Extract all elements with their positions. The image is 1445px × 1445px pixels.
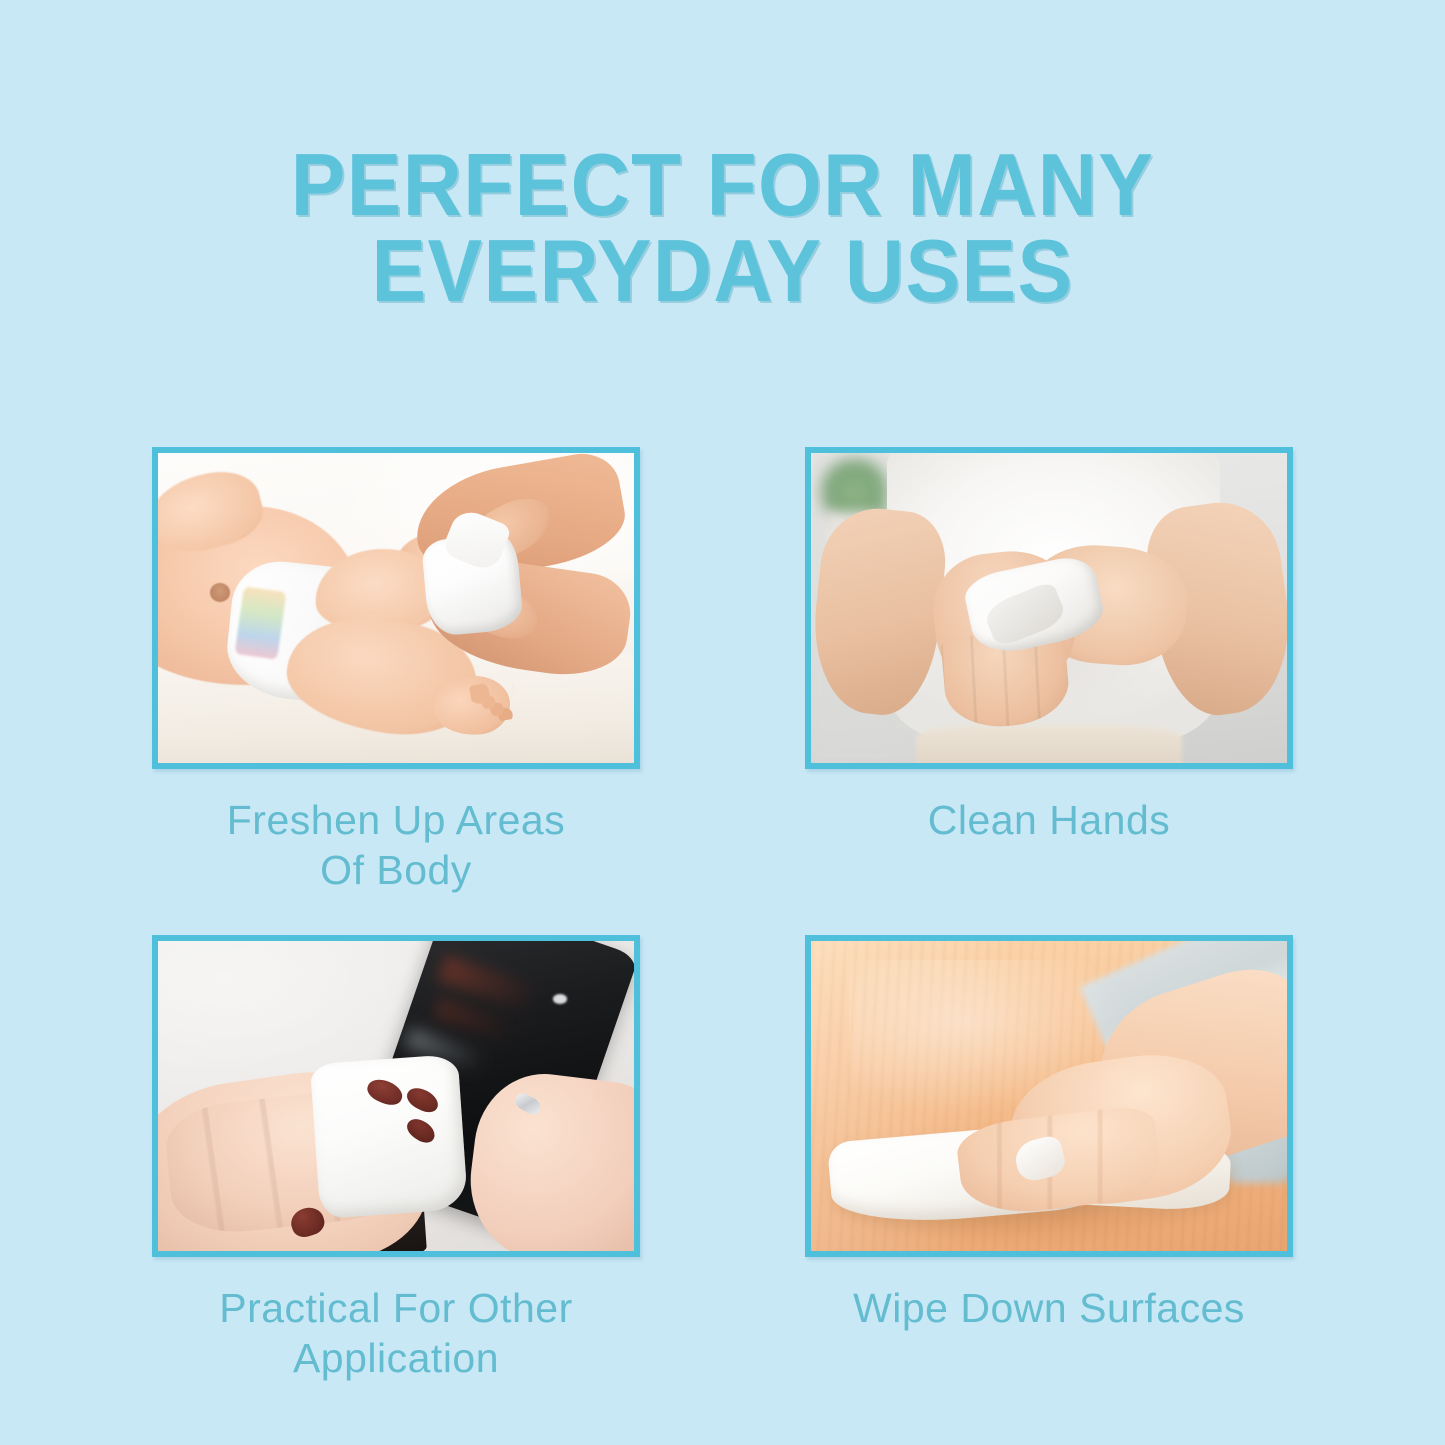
baby-toes-shape	[469, 679, 518, 726]
use-case-caption: Freshen Up Areas Of Body	[227, 795, 565, 895]
phone-screen-wipe-photo	[158, 941, 634, 1251]
wooden-table-wipe-photo	[811, 941, 1287, 1251]
baby-diaper-change-wipe-photo	[158, 453, 634, 763]
clean-hands-wipe-photo-frame	[805, 447, 1293, 769]
wet-wipe-shape	[310, 1054, 468, 1219]
page-title-line-1: PERFECT FOR MANY	[51, 142, 1395, 228]
use-case-card-wipe-down-surfaces: Wipe Down Surfaces	[805, 935, 1293, 1383]
use-case-caption: Practical For Other Application	[219, 1283, 573, 1383]
beige-pants-shape	[916, 726, 1183, 763]
page-title-line-2: EVERYDAY USES	[51, 228, 1395, 314]
uses-grid-row-2: Practical For Other Application	[152, 935, 1293, 1383]
page-title: PERFECT FOR MANY EVERYDAY USES	[0, 142, 1445, 314]
uses-grid-row-1: Freshen Up Areas Of Body	[152, 447, 1293, 895]
phone-screen-wipe-photo-frame	[152, 935, 640, 1257]
use-case-card-clean-hands: Clean Hands	[805, 447, 1293, 895]
use-case-caption: Clean Hands	[928, 795, 1171, 845]
use-case-card-practical-for-other-application: Practical For Other Application	[152, 935, 640, 1383]
use-case-caption: Wipe Down Surfaces	[853, 1283, 1245, 1333]
smartphone-camera-shape	[553, 994, 567, 1004]
clean-hands-wipe-photo	[811, 453, 1287, 763]
wooden-table-wipe-photo-frame	[805, 935, 1293, 1257]
baby-diaper-change-wipe-photo-frame	[152, 447, 640, 769]
baby-navel-shape	[210, 583, 230, 602]
use-case-card-freshen-up-areas-of-body: Freshen Up Areas Of Body	[152, 447, 640, 895]
uses-grid: Freshen Up Areas Of Body	[152, 447, 1293, 1383]
